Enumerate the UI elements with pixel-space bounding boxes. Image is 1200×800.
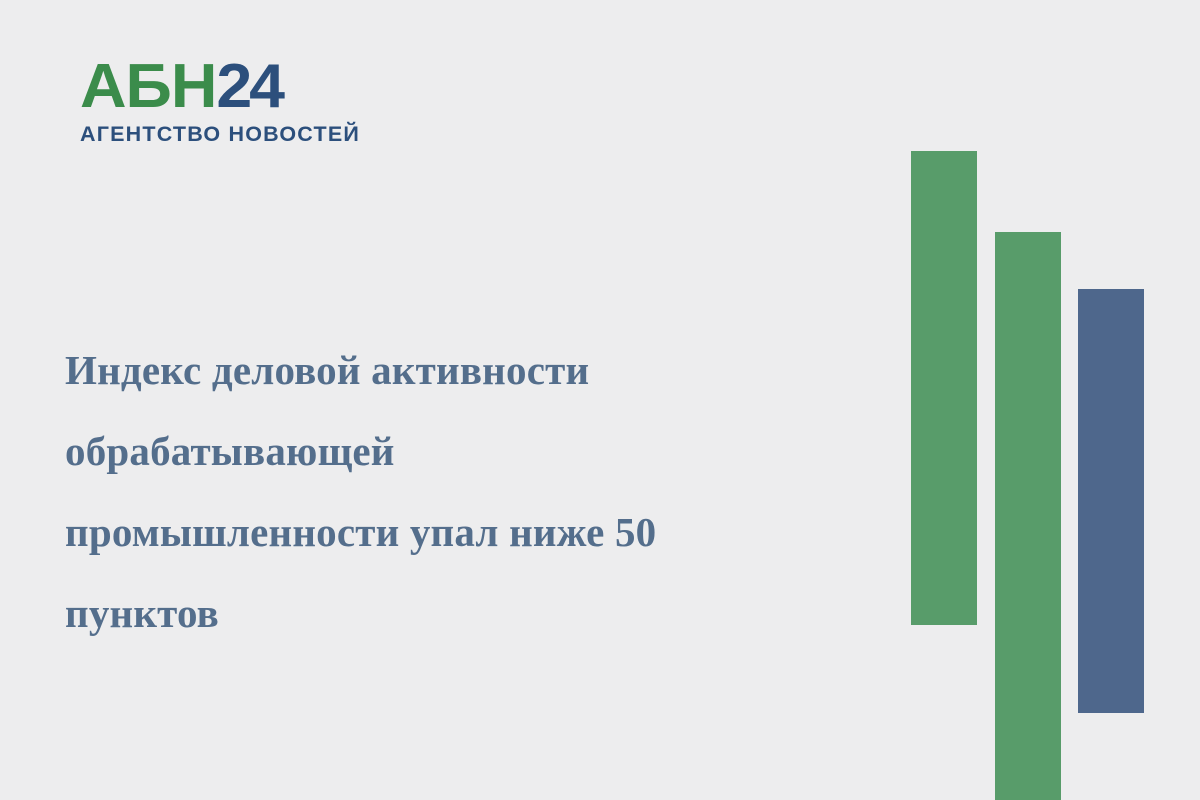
bar-3-blue — [1078, 289, 1144, 713]
bar-1-green — [911, 151, 977, 625]
abn24-logo: АБН24 АГЕНТСТВО НОВОСТЕЙ — [80, 58, 380, 147]
headline-line-2: обрабатывающей — [65, 411, 865, 492]
bar-2-green — [995, 232, 1061, 800]
headline-line-4: пунктов — [65, 573, 865, 654]
logo-text-24: 24 — [216, 52, 281, 121]
page-title: Индекс деловой активностиобрабатывающейп… — [65, 330, 865, 654]
headline-line-3: промышленности упал ниже 50 — [65, 492, 865, 573]
logo-wordmark: АБН24 — [80, 58, 392, 117]
news-card: АБН24 АГЕНТСТВО НОВОСТЕЙ Индекс деловой … — [0, 0, 1200, 800]
logo-text-abn: АБН — [80, 52, 216, 121]
headline-line-1: Индекс деловой активности — [65, 330, 865, 411]
logo-tagline: АГЕНТСТВО НОВОСТЕЙ — [80, 122, 380, 147]
